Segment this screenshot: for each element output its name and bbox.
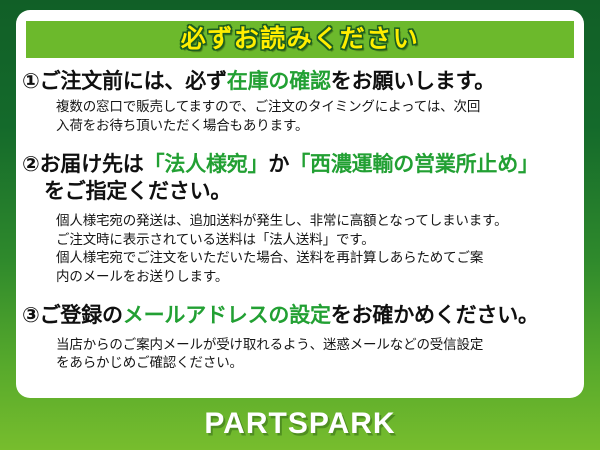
notice-item-2-subtext-line-2: ご注文時に表示されている送料は「法人送料」です。 (56, 231, 576, 250)
notice-item-2-head-pre: お届け先は (40, 153, 144, 176)
notice-item-2-head-continuation: をご指定ください。 (22, 178, 576, 205)
banner-title: 必ずお読みください (181, 27, 420, 52)
notice-item-1: ①ご注文前には、必ず在庫の確認をお願いします。 複数の窓口で販売してますので、ご… (20, 68, 576, 136)
title-bar: 必ずお読みください (26, 21, 574, 58)
notice-item-3-subtext: 当店からのご案内メールが受け取れるよう、迷惑メールなどの受信設定 をあらかじめご… (20, 336, 576, 374)
notice-item-3-highlight: メールアドレスの設定 (123, 304, 331, 327)
notice-item-3: ③ご登録のメールアドレスの設定をお確かめください。 当店からのご案内メールが受け… (20, 302, 576, 373)
notice-item-1-highlight: 在庫の確認 (227, 70, 331, 93)
notice-item-3-marker: ③ (22, 304, 40, 327)
notice-item-1-head-post: をお願いします。 (331, 70, 495, 93)
notice-item-1-subtext-line-2: 入荷をお待ち頂いただく場合もあります。 (56, 117, 576, 136)
notice-item-2-highlight-2: 「西濃運輸の営業所止め」 (289, 153, 539, 176)
notice-item-2-subtext: 個人様宅宛の発送は、追加送料が発生し、非常に高額となってしまいます。 ご注文時に… (20, 212, 576, 288)
partspark-logo: PARTSPARK (204, 409, 395, 439)
content-panel: 必ずお読みください ①ご注文前には、必ず在庫の確認をお願いします。 複数の窓口で… (16, 10, 584, 398)
notice-item-1-head-pre: ご注文前には、必ず (40, 70, 227, 93)
notice-item-2-marker: ② (22, 153, 40, 176)
notice-item-3-head-post: をお確かめください。 (331, 304, 539, 327)
notice-item-1-subtext: 複数の窓口で販売してますので、ご注文のタイミングによっては、次回 入荷をお待ち頂… (20, 98, 576, 136)
notice-item-2: ②お届け先は「法人様宛」か「西濃運輸の営業所止め」 をご指定ください。 個人様宅… (20, 151, 576, 287)
notice-item-3-subtext-line-2: をあらかじめご確認ください。 (56, 354, 576, 373)
notice-item-1-heading: ①ご注文前には、必ず在庫の確認をお願いします。 (20, 68, 576, 95)
notice-item-1-marker: ① (22, 70, 40, 93)
notice-item-2-head-mid: か (268, 153, 289, 176)
notice-item-3-subtext-line-1: 当店からのご案内メールが受け取れるよう、迷惑メールなどの受信設定 (56, 336, 576, 355)
notice-item-2-subtext-line-1: 個人様宅宛の発送は、追加送料が発生し、非常に高額となってしまいます。 (56, 212, 576, 231)
notice-banner: 必ずお読みください ①ご注文前には、必ず在庫の確認をお願いします。 複数の窓口で… (0, 0, 600, 450)
notice-item-2-subtext-line-3: 個人様宅宛でご注文をいただいた場合、送料を再計算しあらためてご案 (56, 249, 576, 268)
notice-item-2-highlight-1: 「法人様宛」 (144, 153, 269, 176)
notice-item-1-subtext-line-1: 複数の窓口で販売してますので、ご注文のタイミングによっては、次回 (56, 98, 576, 117)
notice-item-3-head-pre: ご登録の (40, 304, 123, 327)
notice-list: ①ご注文前には、必ず在庫の確認をお願いします。 複数の窓口で販売してますので、ご… (16, 68, 584, 373)
notice-item-2-subtext-line-4: 内のメールをお送りします。 (56, 268, 576, 287)
footer-brand-bar: PARTSPARK (0, 398, 600, 450)
notice-item-3-heading: ③ご登録のメールアドレスの設定をお確かめください。 (20, 302, 576, 329)
notice-item-2-heading: ②お届け先は「法人様宛」か「西濃運輸の営業所止め」 をご指定ください。 (20, 151, 576, 206)
